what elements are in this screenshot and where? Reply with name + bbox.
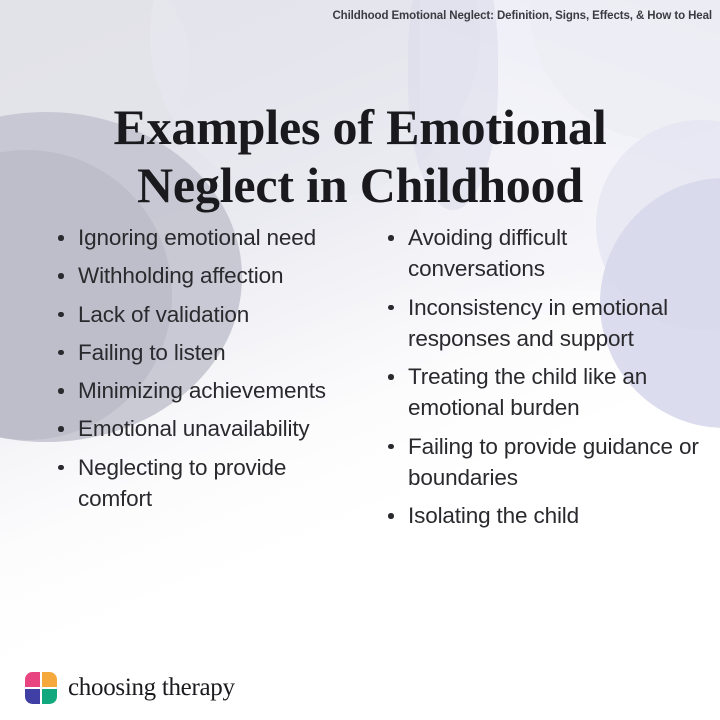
choosing-therapy-petal-mark-icon [25,672,57,704]
list-item: Emotional unavailability [54,413,350,444]
page-title-line-2: Neglect in Childhood [137,157,583,213]
petal-bottom-right-icon [42,689,57,704]
examples-list-left: Ignoring emotional need Withholding affe… [54,222,350,514]
examples-column-right: Avoiding difficult conversations Inconsi… [360,222,720,538]
examples-list-right: Avoiding difficult conversations Inconsi… [384,222,706,531]
list-item: Treating the child like an emotional bur… [384,361,706,424]
petal-top-right-icon [42,672,57,687]
list-item: Withholding affection [54,260,350,291]
infographic-canvas: Childhood Emotional Neglect: Definition,… [0,0,720,720]
petal-top-left-icon [25,672,40,687]
article-breadcrumb-title: Childhood Emotional Neglect: Definition,… [0,10,712,22]
examples-columns: Ignoring emotional need Withholding affe… [0,222,720,538]
list-item: Lack of validation [54,299,350,330]
page-title-line-1: Examples of Emotional [113,99,606,155]
examples-column-left: Ignoring emotional need Withholding affe… [0,222,360,521]
logo-wordmark: choosing therapy [68,674,235,702]
list-item: Neglecting to provide comfort [54,452,350,515]
choosing-therapy-logo[interactable]: choosing therapy [25,672,235,704]
content-layer: Childhood Emotional Neglect: Definition,… [0,0,720,720]
petal-bottom-left-icon [25,689,40,704]
page-title: Examples of Emotional Neglect in Childho… [30,98,690,214]
list-item: Avoiding difficult conversations [384,222,706,285]
list-item: Failing to listen [54,337,350,368]
list-item: Minimizing achievements [54,375,350,406]
list-item: Isolating the child [384,500,706,531]
list-item: Ignoring emotional need [54,222,350,253]
list-item: Failing to provide guidance or boundarie… [384,431,706,494]
list-item: Inconsistency in emotional responses and… [384,292,706,355]
